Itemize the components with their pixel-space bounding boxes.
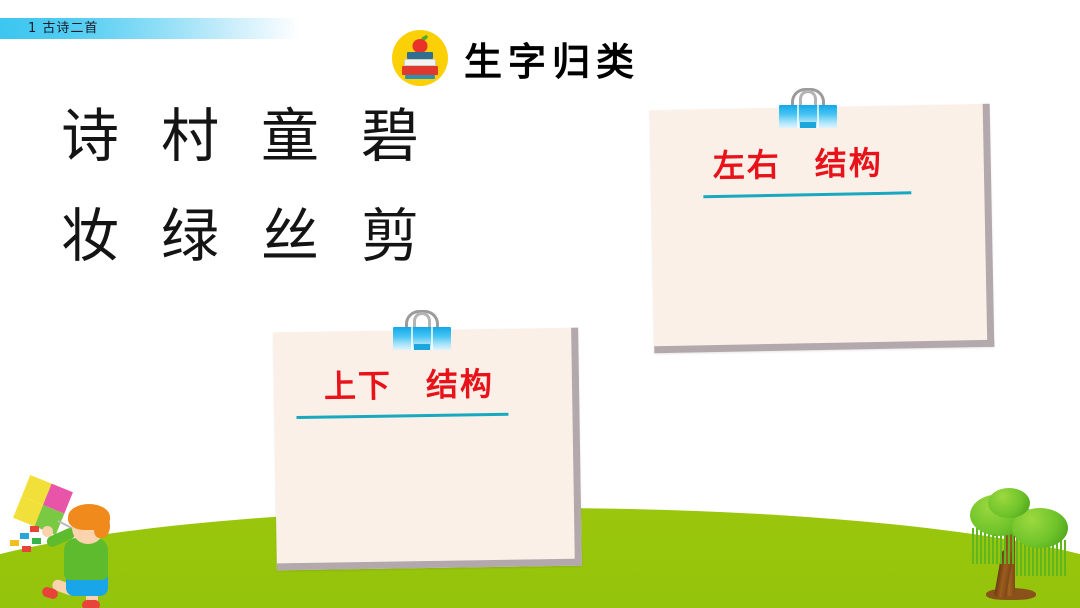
clip-seam-right xyxy=(431,327,433,350)
boy-hair-side xyxy=(94,514,110,538)
book-stack-top xyxy=(407,52,433,59)
lesson-label: 1 古诗二首 xyxy=(28,18,98,39)
kite-bow xyxy=(32,538,41,544)
kite-bow xyxy=(20,533,29,539)
note-card-title: 左右 结构 xyxy=(712,138,883,187)
character-cell: 绿 xyxy=(140,200,240,272)
note-card-underline xyxy=(703,191,911,198)
book-stack-mid xyxy=(404,59,436,66)
clip-seam-right xyxy=(817,105,819,128)
boy-shirt xyxy=(64,538,108,580)
character-cell: 村 xyxy=(140,100,240,172)
note-card-surface: 上下 结构 xyxy=(273,328,575,564)
apple-shape xyxy=(413,39,428,53)
section-title-text: 生字归类 xyxy=(464,31,640,86)
character-cell: 剪 xyxy=(340,200,440,272)
kite-bow xyxy=(10,540,19,546)
character-cell: 丝 xyxy=(240,200,340,272)
note-card-title: 上下 结构 xyxy=(324,359,495,408)
character-row-1: 诗 村 童 碧 xyxy=(40,100,440,172)
note-card-underline xyxy=(296,413,508,419)
character-cell: 妆 xyxy=(40,200,140,272)
character-cell: 童 xyxy=(240,100,340,172)
book-stack-bottom xyxy=(402,66,438,75)
boy-flying-kite-illustration xyxy=(2,470,147,595)
slide-canvas: 1 古诗二首 生字归类 诗 村 童 碧 妆 绿 丝 剪 左右 结构 xyxy=(0,0,1080,608)
clip-seam-left xyxy=(797,105,799,128)
boy-shoe xyxy=(82,600,100,608)
note-card-left-right-structure[interactable]: 左右 结构 xyxy=(650,104,995,353)
binder-clip-icon xyxy=(393,310,451,350)
clip-tab xyxy=(414,344,430,350)
willow-tree-illustration xyxy=(960,478,1075,600)
kite-bow xyxy=(30,526,39,532)
boy-hand xyxy=(42,526,53,537)
clip-tab xyxy=(800,122,816,128)
note-card-surface: 左右 结构 xyxy=(650,104,987,346)
note-card-top-bottom-structure[interactable]: 上下 结构 xyxy=(273,328,582,571)
binder-clip-icon xyxy=(779,88,837,128)
book-stack-base xyxy=(405,75,435,79)
books-apple-icon xyxy=(392,30,448,86)
character-cell: 碧 xyxy=(340,100,440,172)
section-title: 生字归类 xyxy=(392,30,640,86)
clip-seam-left xyxy=(411,327,413,350)
character-cell: 诗 xyxy=(40,100,140,172)
character-row-2: 妆 绿 丝 剪 xyxy=(40,200,440,272)
tree-canopy xyxy=(988,488,1030,518)
kite-bow xyxy=(22,546,31,552)
